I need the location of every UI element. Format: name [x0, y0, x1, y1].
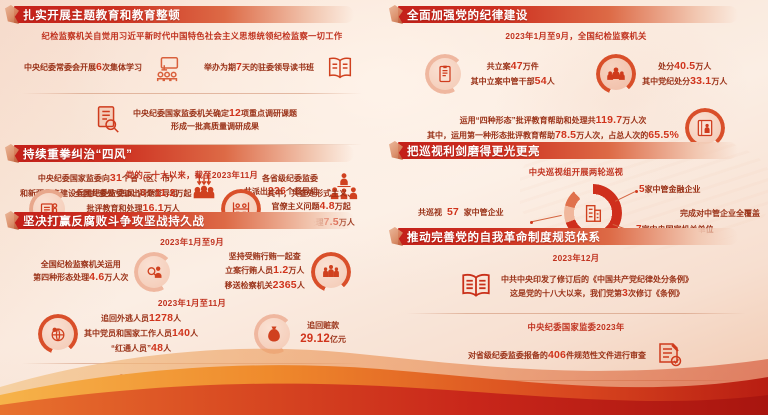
stat-text: 中央纪委国家监委机关确定12项重点调研课题 形成一批高质量调研成果	[133, 106, 297, 133]
section-banner: 坚决打赢反腐败斗争攻坚战持久战	[14, 212, 354, 229]
group-people-icon	[311, 252, 351, 292]
stat-text: 全国31个省（区、市）和新疆生产建设兵团市县一级 监察官等级首次确定工作全面完成	[502, 409, 690, 415]
stat-text: 对省级纪委监委报备的406件规范性文件进行审查	[468, 348, 646, 363]
section-title: 全面加强党的纪律建设	[398, 7, 528, 23]
stat-row: 共立案47万件 其中立案中管干部54人	[384, 54, 768, 94]
stat-text: 中央纪委常委会开展6次集体学习	[24, 60, 142, 75]
leader-line	[532, 215, 562, 222]
stat-text: 坚持受贿行贿一起查 立案行贿人员1.2万人 移送检察机关2365人	[225, 251, 305, 293]
section-anti-corruption: 坚决打赢反腐败斗争攻坚战持久战 2023年1月至9月 全国纪检监察机关运用 第四…	[0, 212, 384, 415]
case-file-icon	[425, 54, 465, 94]
stat-item: 中央纪委常委会开展6次集体学习	[24, 48, 188, 88]
open-book-icon	[320, 48, 360, 88]
stat-item: 共立案47万件 其中立案中管干部54人	[425, 54, 555, 94]
section-subhead-2: 中央纪委国家监委2023年	[384, 321, 768, 333]
stat-row: 追回外逃人员1278人 其中党员和国家工作人员140人 “红通人员”48人	[0, 311, 384, 357]
divider	[406, 313, 746, 314]
open-book-icon	[459, 268, 493, 307]
group-people-glyph	[311, 252, 351, 292]
callout-label-1: 家中管金融企业	[645, 184, 701, 196]
right-column: 全面加强党的纪律建设 2023年1月至9月，全国纪检监察机关	[384, 0, 768, 415]
person-search-icon	[134, 252, 174, 292]
stat-item: 追回外逃人员1278人 其中党员和国家工作人员140人 “红通人员”48人	[38, 311, 198, 357]
section-title: 坚决打赢反腐败斗争攻坚战持久战	[14, 213, 205, 229]
quad-stats-row: 共查处乡村振兴领域 不正之风和腐败问题5.2万个 批评教	[0, 388, 384, 415]
stat-item: 对省级纪委监委报备的406件规范性文件进行审查	[468, 337, 684, 374]
leader-dot	[530, 221, 533, 224]
chart-right-label: 完成对中管企业全覆盖	[680, 208, 760, 220]
section-subhead: 2023年1月至9月，全国纪检监察机关	[384, 30, 768, 42]
section-subhead-2: 2023年1月至11月	[0, 297, 384, 309]
three-people-icon	[323, 388, 351, 415]
stat-row: 全国31个省（区、市）和新疆生产建设兵团市县一级 监察官等级首次确定工作全面完成	[384, 404, 768, 415]
chart-left-value: 家中管企业	[464, 207, 504, 219]
section-subhead-3: 2023年1月至11月，全国纪检监察机关	[0, 371, 384, 383]
section-subhead: 2023年1月至9月	[0, 236, 384, 248]
stat-text: 共立案47万件 其中立案中管干部54人	[471, 59, 555, 89]
stat-text: 全国纪检监察机关运用 第四种形态处理4.6万人次	[33, 259, 128, 286]
stat-item: 中共中央印发了修订后的《中国共产党纪律处分条例》 这是党的十八大以来，我们党第3…	[459, 268, 693, 307]
stat-item: 举办为期7天的驻委领导读书班	[204, 48, 360, 88]
section-banner: 持续重拳纠治“四风”	[14, 145, 354, 162]
stat-item: 追回赃款 29.12亿元	[254, 314, 346, 354]
quad-item: 批评教育和处理 9.6万人	[289, 388, 384, 415]
section-banner: 推动完善党的自我革命制度规范体系	[398, 228, 738, 245]
stat-text: 运用“四种形态”批评教育帮助和处理共119.7万人次 其中，运用第一种形态批评教…	[427, 113, 679, 143]
stat-text: 中共中央印发了修订后的《中国共产党纪律处分条例》 这是党的十八大以来，我们党第3…	[501, 274, 693, 301]
leader-dot	[635, 190, 638, 193]
doc-check-icon	[652, 337, 684, 374]
globe-pin-icon	[38, 314, 78, 354]
section-title: 扎实开展主题教育和教育整顿	[14, 7, 180, 23]
folder-stack-icon	[34, 388, 62, 415]
building-icon	[574, 194, 612, 232]
stat-row: 中央纪委常委会开展6次集体学习	[0, 48, 384, 88]
stat-text: 追回外逃人员1278人 其中党员和国家工作人员140人 “红通人员”48人	[84, 311, 198, 357]
stat-text: 处分40.5万人 其中党纪处分33.1万人	[642, 59, 727, 89]
infographic-page: 扎实开展主题教育和教育整顿 纪检监察机关自觉用习近平新时代中国特色社会主义思想统…	[0, 0, 768, 415]
stat-item: 处分40.5万人 其中党纪处分33.1万人	[596, 54, 727, 94]
section-title: 推动完善党的自我革命制度规范体系	[398, 229, 601, 245]
left-column: 扎实开展主题教育和教育整顿 纪检监察机关自觉用习近平新时代中国特色社会主义思想统…	[0, 0, 384, 415]
chart-left-label: 共巡视	[418, 207, 442, 219]
section-subhead: 纪检监察机关自觉用习近平新时代中国特色社会主义思想统领纪检监察一切工作	[0, 30, 384, 42]
quad-item: 共查处民生领域 不正之风和腐败问题6.7万起	[193, 388, 290, 415]
section-banner: 扎实开展主题教育和教育整顿	[14, 6, 354, 23]
monitor-people-icon	[148, 48, 188, 88]
section-title: 把巡视利剑磨得更光更亮	[398, 143, 540, 159]
person-search-glyph	[134, 252, 174, 292]
divider	[406, 380, 746, 381]
section-title: 持续重拳纠治“四风”	[14, 146, 133, 162]
quad-item: 共查处乡村振兴领域 不正之风和腐败问题5.2万个	[0, 388, 97, 415]
section-banner: 把巡视利剑磨得更光更亮	[398, 142, 738, 159]
stat-text: 举办为期7天的驻委领导读书班	[204, 60, 314, 75]
people-pie-icon	[596, 54, 636, 94]
quad-item: 批评教育和处理 7.6万人	[97, 388, 192, 415]
stat-row: 中央纪委国家监委机关确定12项重点调研课题 形成一批高质量调研成果	[0, 99, 384, 139]
stat-item: 全国纪检监察机关运用 第四种形态处理4.6万人次	[33, 252, 174, 292]
location-pin-network-icon	[461, 404, 493, 415]
money-bag-glyph	[254, 314, 294, 354]
section-self-revolution: 推动完善党的自我革命制度规范体系 2023年12月 中共中央印发了修订后的《中国…	[384, 228, 768, 415]
stat-item: 中央纪委国家监委机关确定12项重点调研课题 形成一批高质量调研成果	[87, 99, 297, 139]
card-search-icon	[227, 388, 255, 415]
stat-item: 坚持受贿行贿一起查 立案行贿人员1.2万人 移送检察机关2365人	[225, 251, 351, 293]
stat-item: 全国31个省（区、市）和新疆生产建设兵团市县一级 监察官等级首次确定工作全面完成	[461, 404, 690, 415]
stat-row: 中共中央印发了修订后的《中国共产党纪律处分条例》 这是党的十八大以来，我们党第3…	[384, 268, 768, 307]
stat-text: 追回赃款 29.12亿元	[300, 320, 346, 348]
section-banner: 全面加强党的纪律建设	[398, 6, 738, 23]
case-file-glyph	[425, 54, 465, 94]
section-party-discipline: 全面加强党的纪律建设 2023年1月至9月，全国纪检监察机关	[384, 6, 768, 148]
divider	[22, 363, 362, 364]
section-subhead: 2023年12月	[384, 252, 768, 264]
stat-row: 全国纪检监察机关运用 第四种形态处理4.6万人次	[0, 251, 384, 293]
money-bag-icon	[254, 314, 294, 354]
section-subhead-3: 截至2023年11月中旬	[384, 388, 768, 400]
section-subhead: 中央巡视组开展两轮巡视	[384, 166, 768, 178]
divider	[22, 93, 362, 94]
globe-pin-glyph	[38, 314, 78, 354]
document-magnifier-icon	[87, 99, 127, 139]
people-pie-glyph	[596, 54, 636, 94]
stat-row: 对省级纪委监委报备的406件规范性文件进行审查	[384, 337, 768, 374]
section-subhead: 党的二十大以来，截至2023年11月	[0, 169, 384, 181]
crowd-gate-icon	[130, 388, 158, 415]
